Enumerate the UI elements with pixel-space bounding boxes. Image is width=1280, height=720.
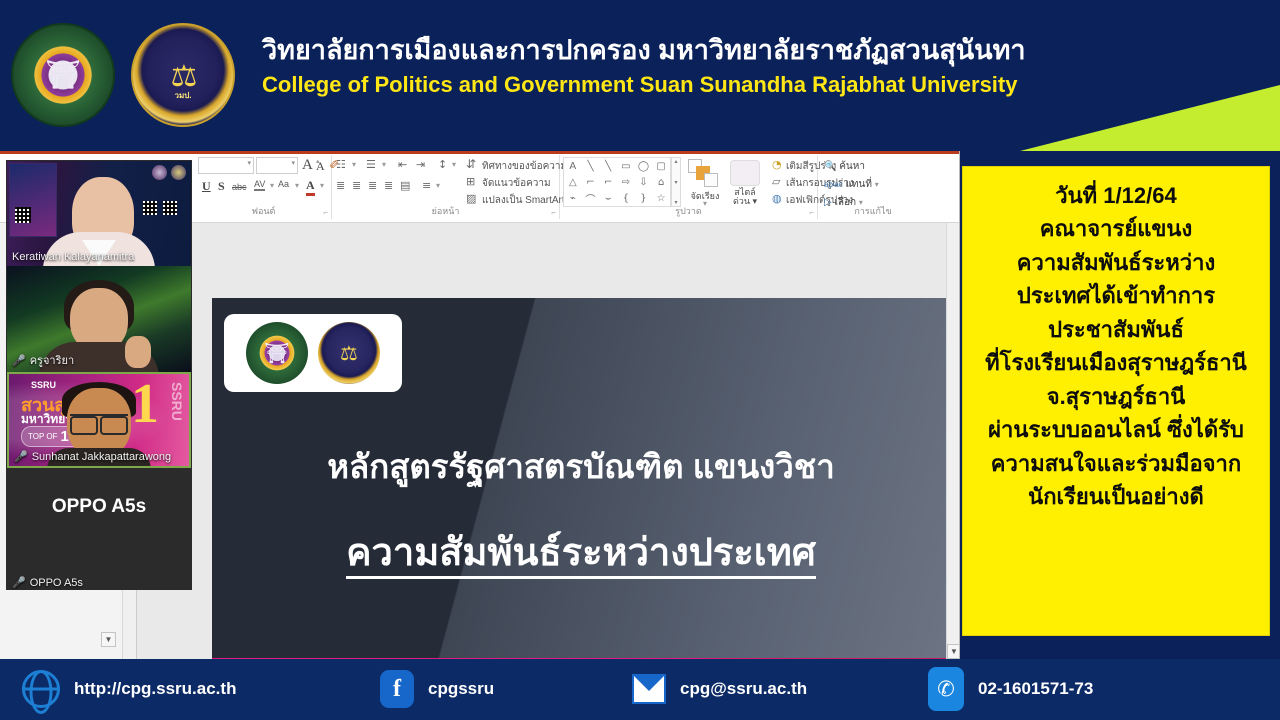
- quick-styles-preview[interactable]: [730, 160, 760, 186]
- crest-scales-glyph: ⚖: [340, 341, 358, 365]
- ssru-brand-label: SSRU: [31, 380, 56, 390]
- notice-line: ประเทศได้เข้าทำการ: [1017, 279, 1215, 312]
- drawing-group-label: รูปวาด: [560, 204, 817, 218]
- slide-title-line2: ความสัมพันธ์ระหว่างประเทศ: [212, 532, 950, 576]
- notice-line: ผ่านระบบออนไลน์ ซึ่งได้รับ: [988, 413, 1244, 446]
- header-green-accent: [1020, 76, 1280, 151]
- replace-icon: ab⁄ac: [824, 180, 843, 189]
- arrange-swatch-front: [704, 173, 718, 187]
- video-tile[interactable]: Keratiwan Kalayanamitra: [7, 161, 191, 266]
- slide-canvas[interactable]: ⛩ ⚖ หลักสูตรรัฐศาสตรบัณฑิต แขนงวิชา ความ…: [212, 298, 950, 659]
- paragraph-dialog-launcher[interactable]: ⌐: [551, 208, 556, 217]
- replace-label: แทนที่: [845, 179, 871, 190]
- qr-code-icon: [163, 201, 177, 215]
- notice-panel: วันที่ 1/12/64 คณาจารย์แขนง ความสัมพันธ์…: [962, 166, 1270, 636]
- slide-title-line2-text: ความสัมพันธ์ระหว่างประเทศ: [346, 532, 816, 579]
- shapes-scroll-down-icon[interactable]: ▾: [674, 179, 677, 186]
- slide-logo-block: ⛩ ⚖: [224, 314, 402, 392]
- notice-line: ความสนใจและร่วมมือจาก: [991, 447, 1241, 480]
- shapes-scroll-up-icon[interactable]: ▴: [674, 158, 677, 165]
- shape-down-arrow-icon[interactable]: ⇩: [635, 174, 653, 190]
- facebook-label: cpgssru: [428, 679, 494, 699]
- grow-font-sup: ▴: [316, 157, 320, 165]
- crest-ring: ⛩: [11, 23, 115, 127]
- character-spacing-button[interactable]: AV: [254, 179, 265, 191]
- shape-rounded-rect-icon[interactable]: ▢: [652, 158, 670, 174]
- line-spacing-caret[interactable]: ▾: [452, 160, 456, 169]
- underline-button[interactable]: U: [202, 179, 211, 194]
- college-crest-icon: ⚖ วมป.: [128, 4, 238, 146]
- header-titles: วิทยาลัยการเมืองและการปกครอง มหาวิทยาลัย…: [262, 33, 1026, 100]
- shape-triangle-icon[interactable]: △: [564, 174, 582, 190]
- shape-right-arrow-icon[interactable]: ⇨: [617, 174, 635, 190]
- shape-textbox-icon[interactable]: A: [564, 158, 582, 174]
- shape-rectangle-icon[interactable]: ▭: [617, 158, 635, 174]
- shape-outline-icon[interactable]: ▱: [772, 175, 780, 188]
- video-tile[interactable]: 🎤 ครูจาริยา: [7, 266, 191, 372]
- phone-icon: ✆: [928, 667, 964, 711]
- participant-hand: [125, 336, 151, 368]
- participant-name: 🎤 ครูจาริยา: [12, 351, 74, 369]
- microphone-muted-icon: 🎤: [14, 450, 28, 463]
- shape-line-icon[interactable]: ╲: [582, 158, 600, 174]
- footer-email[interactable]: cpg@ssru.ac.th: [632, 674, 807, 704]
- tile-background-card: [9, 163, 57, 237]
- ribbon-group-editing[interactable]: 🔍 ค้นหา ab⁄ac แทนที่ ▾ ▷ เลือก ▾ การแก้ไ…: [818, 155, 928, 219]
- bullets-caret[interactable]: ▾: [352, 160, 356, 169]
- footer-phone[interactable]: ✆ 02-1601571-73: [928, 667, 1093, 711]
- increase-indent-icon[interactable]: ⇥: [416, 158, 425, 171]
- phone-label: 02-1601571-73: [978, 679, 1093, 699]
- banner-rank-label: TOP OF: [28, 432, 58, 441]
- canvas-scrollbar[interactable]: ▼: [946, 223, 960, 659]
- grow-font-icon[interactable]: A: [302, 157, 313, 174]
- notice-line: ความสัมพันธ์ระหว่าง: [1017, 246, 1215, 279]
- participant-name: 🎤 OPPO A5s: [12, 576, 83, 589]
- notice-line: ประชาสัมพันธ์: [1048, 313, 1184, 346]
- font-size-input[interactable]: [256, 157, 298, 174]
- participant-name: Keratiwan Kalayanamitra: [12, 251, 134, 263]
- find-button[interactable]: 🔍 ค้นหา: [824, 159, 865, 174]
- canvas-scroll-down-button[interactable]: ▼: [947, 644, 960, 659]
- change-case-button[interactable]: Aa: [278, 179, 289, 189]
- font-name-input[interactable]: [198, 157, 254, 174]
- font-group-label: ฟอนต์: [196, 204, 331, 218]
- participant-glasses: [70, 414, 128, 430]
- ribbon-group-font[interactable]: A A ▴ ✐ U S abc AV ▾ Aa ▾ A ▾ ฟอนต์ ⌐: [196, 155, 332, 219]
- device-name-label: OPPO A5s: [7, 496, 191, 518]
- columns-icon[interactable]: ▤: [400, 179, 410, 192]
- video-tile-name-row[interactable]: 🎤 OPPO A5s: [7, 562, 191, 590]
- align-text-label[interactable]: จัดแนวข้อความ: [482, 176, 551, 191]
- strikethrough-button[interactable]: abc: [232, 182, 247, 192]
- slide-canvas-area[interactable]: ⛩ ⚖ หลักสูตรรัฐศาสตรบัณฑิต แขนงวิชา ความ…: [137, 223, 960, 659]
- shapes-gallery[interactable]: A ╲ ╲ ▭ ◯ ▢ △ ⌐ ⌐ ⇨ ⇩ ⌂ ⌁ ⌒ ⌣ { }: [563, 157, 671, 207]
- email-label: cpg@ssru.ac.th: [680, 679, 807, 699]
- video-tile[interactable]: OPPO A5s: [7, 468, 191, 562]
- justify-icon[interactable]: ≣: [384, 179, 393, 192]
- decrease-indent-icon[interactable]: ⇤: [398, 158, 407, 171]
- text-direction-label[interactable]: ทิศทางของข้อความ: [482, 159, 567, 174]
- text-columns-icon[interactable]: ≡: [422, 179, 431, 192]
- notice-line: นักเรียนเป็นอย่างดี: [1028, 480, 1204, 513]
- slide-title-line1: หลักสูตรรัฐศาสตรบัณฑิต แขนงวิชา: [212, 448, 950, 486]
- align-text-icon[interactable]: ⊞: [466, 175, 475, 188]
- slide-college-crest-icon: ⚖: [318, 322, 380, 384]
- find-label: ค้นหา: [839, 161, 865, 172]
- header-title-english: College of Politics and Government Suan …: [262, 70, 1026, 100]
- participant-name: 🎤 Sunhanat Jakkapattarawong: [14, 450, 171, 463]
- text-shadow-button[interactable]: S: [218, 179, 225, 194]
- text-columns-caret[interactable]: ▾: [436, 181, 440, 190]
- seal-icon: [171, 165, 186, 180]
- font-dialog-launcher[interactable]: ⌐: [323, 208, 328, 217]
- change-case-caret[interactable]: ▾: [295, 181, 299, 190]
- header-title-thai: วิทยาลัยการเมืองและการปกครอง มหาวิทยาลัย…: [262, 33, 1026, 68]
- banner-side-brand: SSRU: [169, 382, 185, 421]
- participant-name-text: ครูจาริยา: [30, 351, 74, 369]
- replace-button[interactable]: ab⁄ac แทนที่ ▾: [824, 177, 879, 192]
- editing-group-label: การแก้ไข: [818, 204, 928, 218]
- microphone-muted-icon: 🎤: [12, 576, 26, 589]
- line-spacing-icon[interactable]: ↕: [438, 158, 447, 171]
- page-header: ⛩ ⚖ วมป. วิทยาลัยการเมืองและการปกครอง มห…: [0, 0, 1280, 151]
- ribbon-group-drawing[interactable]: A ╲ ╲ ▭ ◯ ▢ △ ⌐ ⌐ ⇨ ⇩ ⌂ ⌁ ⌒ ⌣ { }: [560, 155, 818, 219]
- crest-scales-glyph: ⚖: [171, 62, 196, 92]
- participant-name-text: Sunhanat Jakkapattarawong: [32, 451, 171, 463]
- align-center-icon[interactable]: ≣: [352, 179, 361, 192]
- website-label: http://cpg.ssru.ac.th: [74, 679, 236, 699]
- font-color-caret[interactable]: ▾: [320, 181, 324, 190]
- shapes-gallery-scrollbar[interactable]: ▴ ▾ ▾: [671, 157, 681, 207]
- slide-title-line1-text: หลักสูตรรัฐศาสตรบัณฑิต แขนงวิชา: [327, 448, 834, 485]
- shape-pentagon-icon[interactable]: ⌂: [652, 174, 670, 190]
- thumbnail-scroll-down-button[interactable]: ▼: [101, 632, 116, 647]
- crest-label: วมป.: [174, 89, 191, 102]
- character-spacing-caret[interactable]: ▾: [270, 181, 274, 190]
- replace-caret-icon[interactable]: ▾: [875, 180, 879, 189]
- page-footer: http://cpg.ssru.ac.th f cpgssru cpg@ssru…: [0, 659, 1280, 720]
- notice-line: คณาจารย์แขนง: [1040, 212, 1192, 245]
- search-icon: 🔍: [824, 161, 836, 172]
- ribbon-accent-bar: [0, 151, 960, 154]
- shape-arrow-icon[interactable]: ╲: [599, 158, 617, 174]
- text-direction-icon[interactable]: ⇵: [466, 157, 476, 171]
- qr-code-icon: [143, 201, 157, 215]
- align-right-icon[interactable]: ≣: [368, 179, 377, 192]
- microphone-muted-icon: 🎤: [12, 354, 26, 367]
- video-participants-strip[interactable]: Keratiwan Kalayanamitra 🎤 ครูจาริยา SSRU…: [6, 160, 192, 590]
- notice-line: จ.สุราษฎร์ธานี: [1047, 380, 1186, 413]
- align-left-icon[interactable]: ≣: [336, 179, 345, 192]
- footer-website[interactable]: http://cpg.ssru.ac.th: [22, 670, 236, 708]
- paragraph-group-label: ย่อหน้า: [332, 204, 559, 218]
- crest-emblem-glyph: ⛩: [264, 341, 289, 365]
- footer-facebook[interactable]: f cpgssru: [380, 670, 494, 708]
- drawing-dialog-launcher[interactable]: ⌐: [809, 208, 814, 217]
- seal-icon: [152, 165, 167, 180]
- university-crest-icon: ⛩: [8, 4, 118, 146]
- qr-code-icon: [15, 207, 31, 223]
- crest-ring: ⚖ วมป.: [131, 23, 235, 127]
- notice-line: ที่โรงเรียนเมืองสุราษฎร์ธานี: [985, 346, 1247, 379]
- slide-university-crest-icon: ⛩: [246, 322, 308, 384]
- notice-line: วันที่ 1/12/64: [1055, 179, 1176, 212]
- shape-elbow-arrow-icon[interactable]: ⌐: [599, 174, 617, 190]
- font-color-button[interactable]: A: [306, 178, 315, 196]
- shape-elbow-icon[interactable]: ⌐: [582, 174, 600, 190]
- mail-icon: [632, 674, 666, 704]
- facebook-icon: f: [380, 670, 414, 708]
- participant-name-text: OPPO A5s: [30, 577, 83, 589]
- crest-emblem-glyph: ⛩: [45, 61, 81, 89]
- shape-oval-icon[interactable]: ◯: [635, 158, 653, 174]
- numbering-caret[interactable]: ▾: [382, 160, 386, 169]
- bullets-icon[interactable]: ☷: [336, 158, 346, 171]
- ribbon-group-paragraph[interactable]: ☷ ▾ ☰ ▾ ⇤ ⇥ ↕ ▾ ≣ ≣ ≣ ≣ ▤ ≡ ▾ ⇵ ทิศทางขอ…: [332, 155, 560, 219]
- video-tile-active-speaker[interactable]: SSRU สวนสุนันทา มหาวิทยาลัย TOP OF 14 1 …: [7, 372, 191, 468]
- shape-fill-icon[interactable]: ◔: [772, 158, 782, 171]
- globe-icon: [22, 670, 60, 708]
- numbering-icon[interactable]: ☰: [366, 158, 376, 171]
- participant-name-text: Keratiwan Kalayanamitra: [12, 251, 134, 263]
